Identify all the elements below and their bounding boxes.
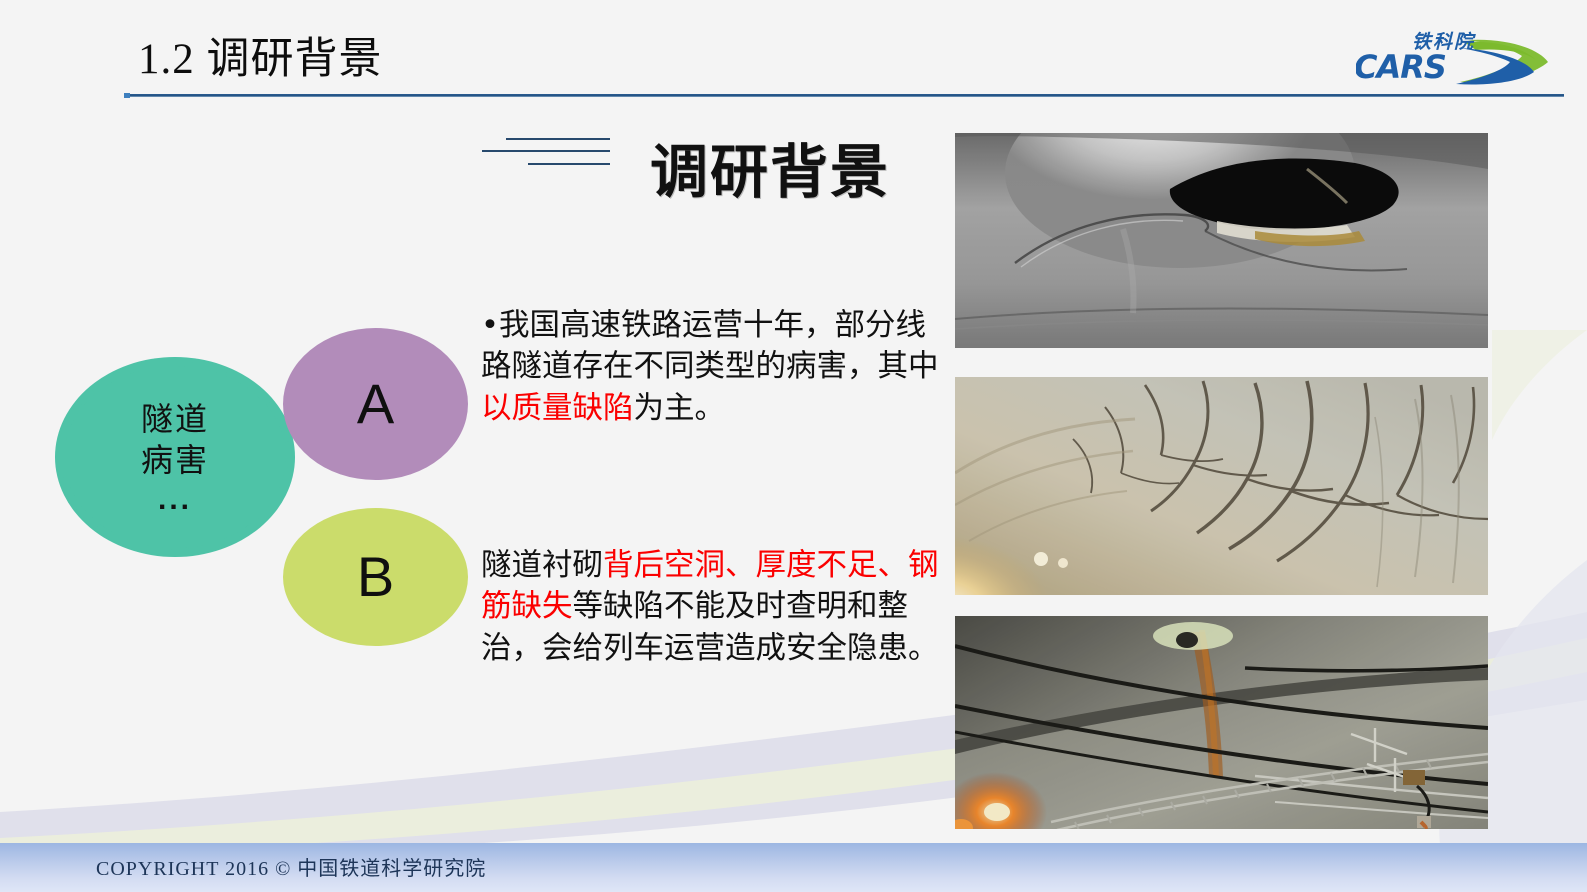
svg-text:CARS: CARS: [1356, 48, 1446, 86]
slide-header: 1.2 调研背景 铁科院 CARS: [0, 0, 1587, 100]
badge-ellipse-a: A: [283, 328, 468, 480]
badge-ellipse-b: B: [283, 508, 468, 646]
topic-ellipsis: ...: [158, 485, 192, 515]
paragraph-b-seg-1: 隧道衬砌: [481, 548, 603, 583]
topic-line-1: 隧道: [141, 399, 209, 440]
paragraph-a: •我国高速铁路运营十年，部分线路隧道存在不同类型的病害，其中以质量缺陷为主。: [481, 305, 939, 429]
photo-tunnel-cable-tray-seepage: [955, 616, 1488, 829]
topic-line-2: 病害: [141, 440, 209, 481]
paragraph-a-emphasis: 以质量缺陷: [481, 391, 634, 426]
copyright-text: COPYRIGHT 2016 © 中国铁道科学研究院: [96, 852, 486, 881]
paragraph-a-seg-1: •我国高速铁路运营十年，部分线路隧道存在不同类型的病害，其中: [481, 308, 939, 384]
paragraph-a-seg-3: 为主。: [634, 391, 726, 426]
paragraph-b: 隧道衬砌背后空洞、厚度不足、钢筋缺失等缺陷不能及时查明和整治，会给列车运营造成安…: [481, 545, 939, 669]
badge-label-b: B: [357, 549, 394, 605]
page-title: 1.2 调研背景: [138, 24, 383, 86]
badge-label-a: A: [357, 376, 394, 432]
main-heading: 调研背景: [650, 125, 890, 209]
heading-decoration: [482, 132, 610, 174]
photo-tunnel-lining-crack-network: [955, 377, 1488, 595]
header-divider: [124, 94, 1564, 97]
cars-logo: 铁科院 CARS: [1356, 26, 1556, 88]
slide: 1.2 调研背景 铁科院 CARS 调研背景 隧道 病害 ... A: [0, 0, 1587, 892]
topic-ellipse-tunnel-defects: 隧道 病害 ...: [55, 357, 295, 557]
photo-tunnel-lining-spalling-hole: [955, 133, 1488, 348]
